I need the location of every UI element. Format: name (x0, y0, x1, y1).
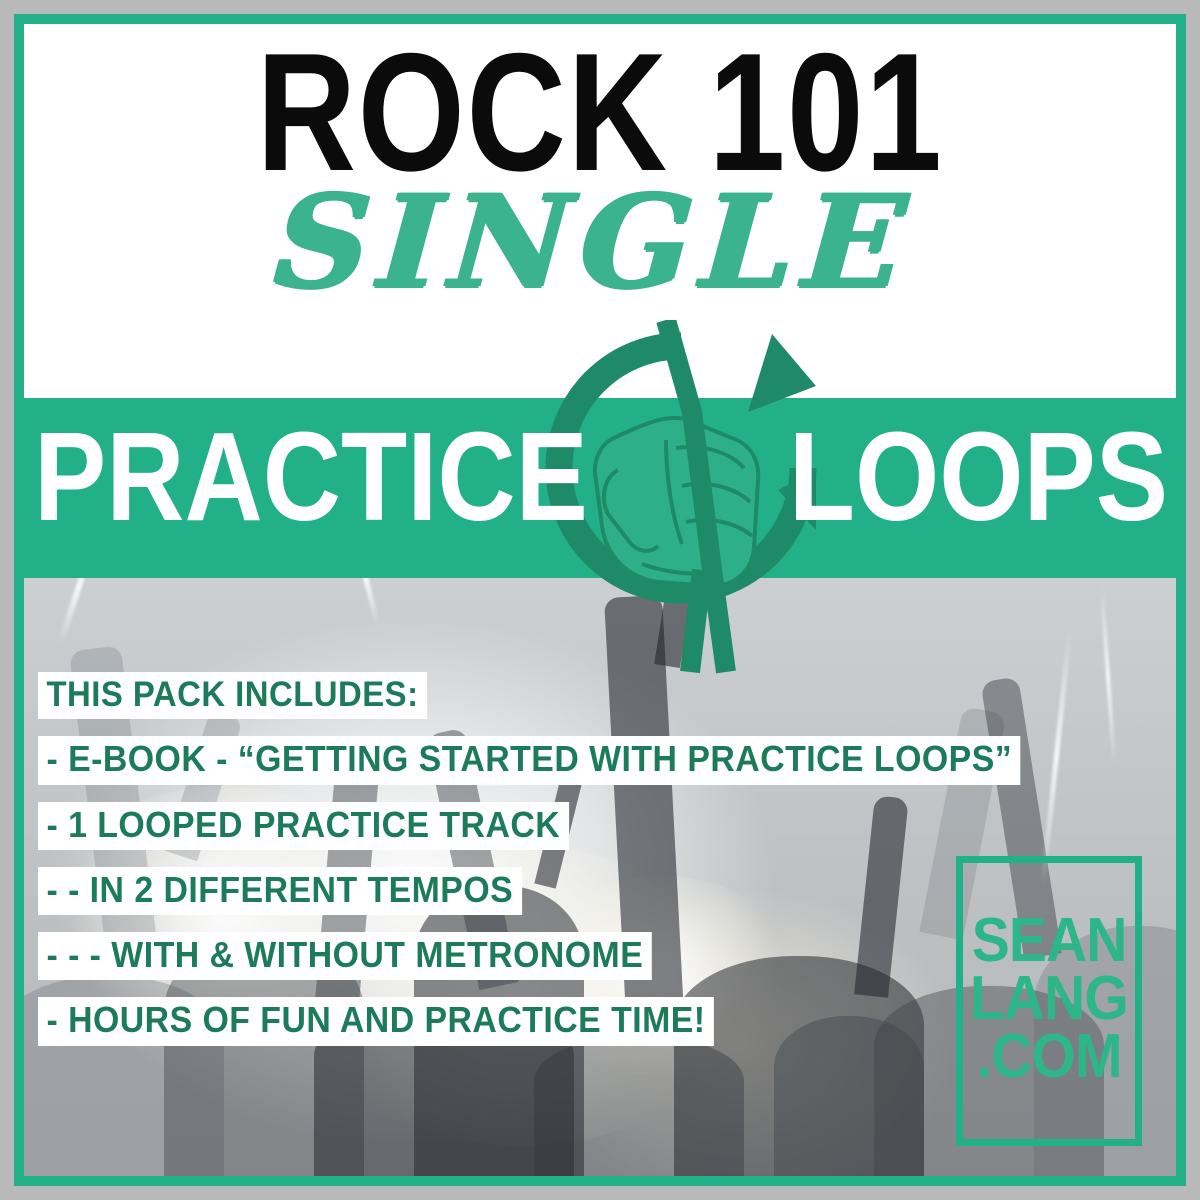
list-item: - HOURS OF FUN AND PRACTICE TIME! (38, 997, 714, 1045)
logo-line-lang: LANG (970, 970, 1128, 1028)
list-item: - E-BOOK - “GETTING STARTED WITH PRACTIC… (38, 736, 1021, 784)
subtitle-single: SINGLE (0, 178, 1200, 306)
includes-list: THIS PACK INCLUDES: - E-BOOK - “GETTING … (38, 672, 1083, 1063)
band-word-loops: LOOPS (789, 414, 1168, 540)
list-item: - - - WITH & WITHOUT METRONOME (38, 932, 652, 980)
list-item: - - IN 2 DIFFERENT TEMPOS (38, 867, 522, 915)
poster-root: ROCK 101 SINGLE PRACTICE LOOPS THIS PACK… (0, 0, 1200, 1200)
list-item: - 1 LOOPED PRACTICE TRACK (38, 802, 569, 850)
band-word-practice: PRACTICE (34, 414, 588, 540)
includes-heading: THIS PACK INCLUDES: (38, 672, 427, 719)
logo-line-sean: SEAN (972, 912, 1127, 970)
seanlang-logo[interactable]: SEAN LANG .COM (956, 856, 1142, 1146)
logo-line-com: .COM (976, 1028, 1121, 1086)
